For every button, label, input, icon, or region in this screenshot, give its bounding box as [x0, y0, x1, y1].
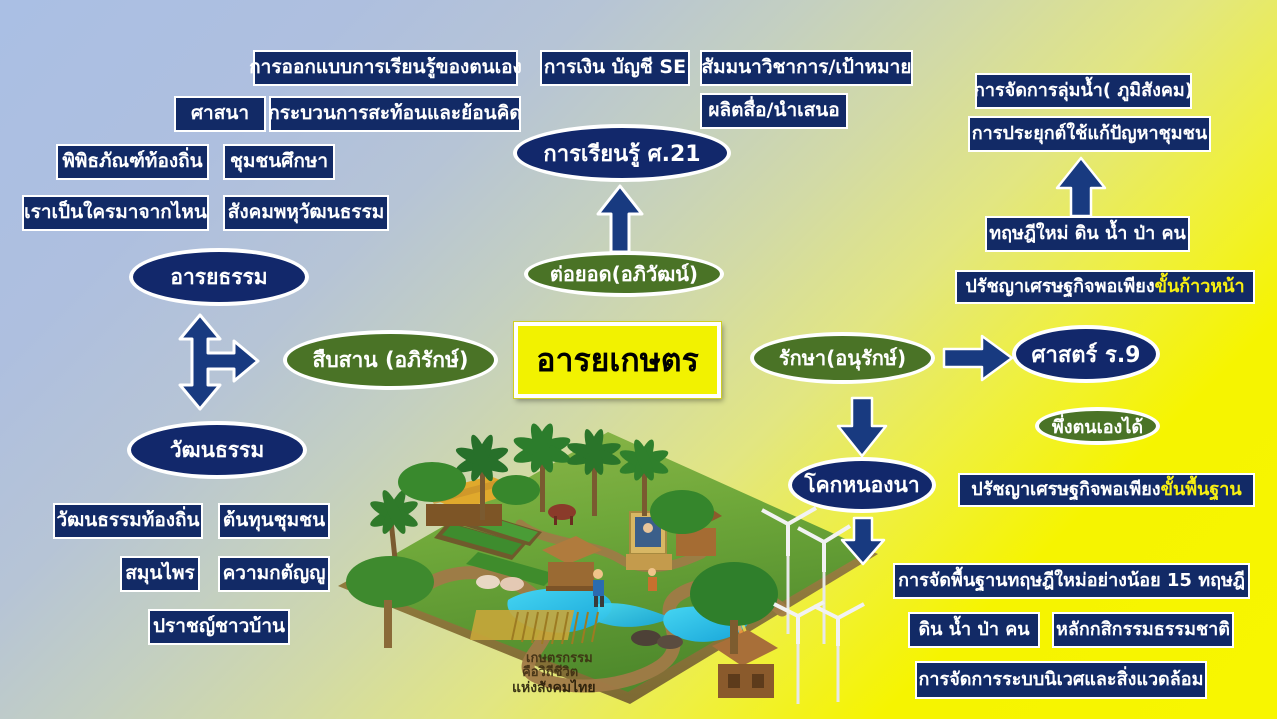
svg-text:คือวิถีชีวิต: คือวิถีชีวิต [522, 664, 578, 680]
svg-text:เกษตรกรรม: เกษตรกรรม [526, 651, 593, 666]
box-community-study[interactable]: ชุมชนศึกษา [223, 144, 335, 180]
hub-civilization[interactable]: อารยธรรม [129, 248, 309, 306]
svg-text:แห่งสังคมไทย: แห่งสังคมไทย [512, 678, 596, 696]
box-local-museum[interactable]: พิพิธภัณฑ์ท้องถิ่น [56, 144, 209, 180]
box-local-culture[interactable]: วัฒนธรรมท้องถิ่น [53, 503, 203, 539]
hub-21st-century-learning[interactable]: การเรียนรู้ ศ.21 [513, 124, 731, 182]
box-gratitude[interactable]: ความกตัญญู [218, 556, 330, 592]
box-finance-accounting-se[interactable]: การเงิน บัญชี SE [540, 50, 690, 86]
box-new-theory-15-foundations[interactable]: การจัดพื้นฐานทฤษฎีใหม่อย่างน้อย 15 ทฤษฎี [893, 563, 1250, 599]
hub-khok-nong-na[interactable]: โคกหนองนา [788, 457, 936, 513]
box-who-are-we[interactable]: เราเป็นใครมาจากไหน [22, 195, 209, 231]
box-community-capital[interactable]: ต้นทุนชุมชน [218, 503, 330, 539]
box-village-scholar[interactable]: ปราชญ์ชาวบ้าน [148, 609, 290, 645]
pillar-sueb-san[interactable]: สืบสาน (อภิรักษ์) [283, 330, 498, 390]
page-title: อารยเกษตร [514, 322, 721, 398]
box-soil-water-forest-people[interactable]: ดิน น้ำ ป่า คน [908, 612, 1040, 648]
node-self-reliance[interactable]: พึ่งตนเองได้ [1035, 407, 1160, 445]
arrow-up-to-application-icon [1055, 156, 1107, 218]
sufficiency-advanced-main: ปรัชญาเศรษฐกิจพอเพียง [965, 278, 1154, 297]
box-new-theory-soil-water-forest-people[interactable]: ทฤษฎีใหม่ ดิน น้ำ ป่า คน [985, 216, 1190, 252]
box-natural-agriculture-principles[interactable]: หลักกสิกรรมธรรมชาติ [1052, 612, 1234, 648]
pillar-to-yot[interactable]: ต่อยอด(อภิวัฒน์) [524, 251, 724, 297]
arrow-right-to-science-icon [942, 334, 1014, 382]
box-multicultural-society[interactable]: สังคมพหุวัฒนธรรม [223, 195, 389, 231]
arrow-down-to-khok-nong-na-icon [836, 396, 888, 458]
hub-culture[interactable]: วัฒนธรรม [127, 421, 307, 479]
arrow-up-down-right-icon [178, 309, 298, 425]
hub-royal-science[interactable]: ศาสตร์ ร.9 [1012, 325, 1160, 383]
sufficiency-basic-main: ปรัชญาเศรษฐกิจพอเพียง [971, 481, 1160, 500]
box-herbs[interactable]: สมุนไพร [120, 556, 200, 592]
box-sufficiency-economy-advanced[interactable]: ปรัชญาเศรษฐกิจพอเพียง ขั้นก้าวหน้า [955, 270, 1255, 304]
box-ecosystem-environment-management[interactable]: การจัดการระบบนิเวศและสิ่งแวดล้อม [915, 661, 1207, 699]
box-community-problem-application[interactable]: การประยุกต์ใช้แก้ปัญหาชุมชน [968, 116, 1211, 152]
diagram-canvas: เกษตรกรรม คือวิถีชีวิต แห่งสังคมไทย การอ… [0, 0, 1277, 719]
box-media-presentation[interactable]: ผลิตสื่อ/นำเสนอ [700, 93, 848, 129]
box-academic-seminar-goal[interactable]: สัมมนาวิชาการ/เป้าหมาย [700, 50, 913, 86]
farm-landscape-illustration: เกษตรกรรม คือวิถีชีวิต แห่งสังคมไทย [330, 404, 890, 719]
box-reflection-process[interactable]: กระบวนการสะท้อนและย้อนคิด [269, 96, 521, 132]
sufficiency-basic-highlight: ขั้นพื้นฐาน [1161, 481, 1242, 500]
pillar-raksa[interactable]: รักษา(อนุรักษ์) [750, 332, 935, 384]
box-watershed-management[interactable]: การจัดการลุ่มน้ำ( ภูมิสังคม) [975, 73, 1192, 109]
arrow-down-from-khok-nong-na-icon [840, 516, 886, 566]
box-self-directed-learning-design[interactable]: การออกแบบการเรียนรู้ของตนเอง [253, 50, 518, 86]
box-sufficiency-economy-basic[interactable]: ปรัชญาเศรษฐกิจพอเพียง ขั้นพื้นฐาน [958, 473, 1255, 507]
sufficiency-advanced-highlight: ขั้นก้าวหน้า [1155, 278, 1245, 297]
arrow-up-to-learning-icon [596, 184, 644, 254]
box-religion[interactable]: ศาสนา [174, 96, 266, 132]
